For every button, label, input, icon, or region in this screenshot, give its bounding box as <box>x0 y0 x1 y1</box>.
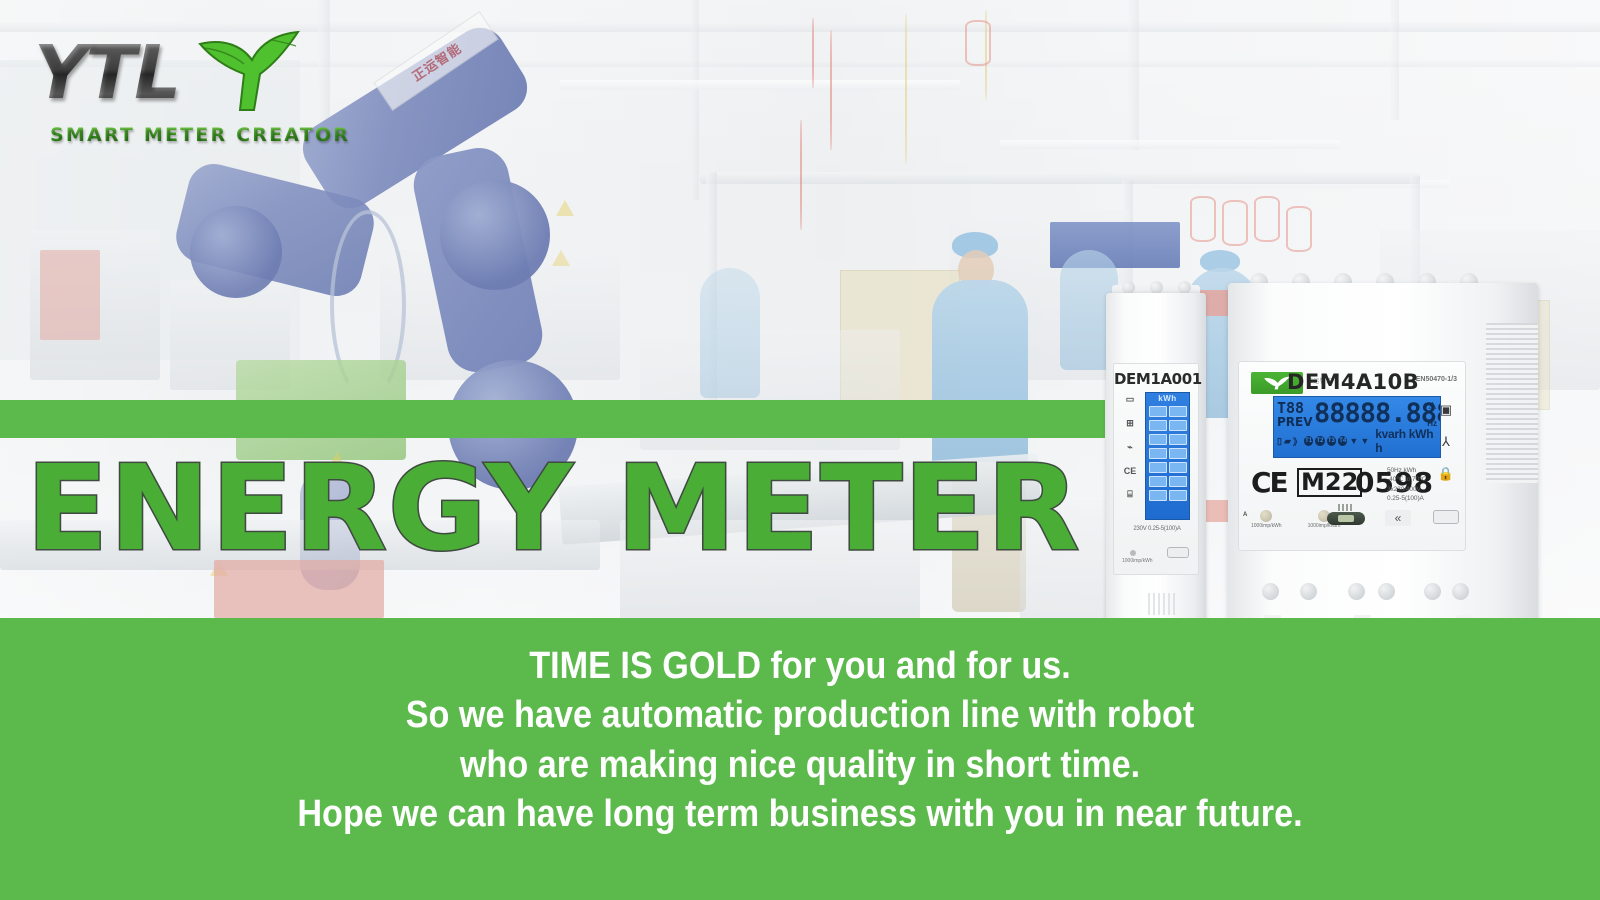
down-arrow-icon: ▼ <box>1360 436 1369 446</box>
ce-icon: CE <box>1118 466 1142 476</box>
lcd-indicator-row: ▯ ▰ 》 T1 T2 T3 T4 ▼ ▼ kvarh kWh h <box>1277 427 1439 455</box>
spec-line: 0.25-5(100)A <box>1387 494 1465 503</box>
meter-large-button[interactable] <box>1433 510 1459 524</box>
tagline-line: who are making nice quality in short tim… <box>80 741 1520 790</box>
lock-icon: ⊞ <box>1118 418 1142 429</box>
energy-meter-banner: 正运智能 YTL <box>0 0 1600 900</box>
meter-small-model-label: DEM1A001 <box>1114 370 1200 388</box>
lock-icon: ▰ <box>1284 436 1291 447</box>
meter-small-lcd-display: kWh <box>1145 392 1190 520</box>
metrology-mark: M22 <box>1297 468 1362 497</box>
terminal-screw <box>1452 583 1469 600</box>
meter-large-faceplate: 正运智能 DEM4A10B EN50470-1/3 T88 PREV 88888… <box>1238 361 1466 551</box>
terminal-screw <box>1262 583 1279 600</box>
terminal-screw <box>1300 583 1317 600</box>
meter-small-spec-label: 230V 0.25-5(100)A <box>1114 526 1200 532</box>
scroll-back-button[interactable]: « <box>1385 510 1411 526</box>
certification-icon: ⌸ <box>1118 489 1142 500</box>
comm-icon: 》 <box>1293 435 1302 448</box>
page-title: ENERGY METER <box>26 448 1080 568</box>
tariff-4-icon: T4 <box>1338 436 1347 446</box>
lcd-units-label: kvarh kWh h <box>1375 427 1439 455</box>
meter-small-side-marks: ▭ ⊞ ⌁ CE ⌸ <box>1118 394 1142 513</box>
pulse-led-a-label: 1000imp/kWh <box>1251 523 1282 529</box>
meter-small-faceplate: DEM1A001 ▭ ⊞ ⌁ CE ⌸ kWh <box>1113 363 1199 575</box>
spec-line: 50Hz kWh <box>1387 466 1465 475</box>
product-meter-large: 正运智能 DEM4A10B EN50470-1/3 T88 PREV 88888… <box>1228 283 1538 643</box>
tariff-3-icon: T3 <box>1327 436 1336 446</box>
battery-icon: ▯ <box>1277 436 1282 447</box>
tariff-2-icon: T2 <box>1315 436 1324 446</box>
down-arrow-icon: ▼ <box>1349 436 1358 446</box>
lcd-digits: 88888.888 <box>1314 398 1441 429</box>
display-icon: ▣ <box>1433 398 1459 422</box>
spec-line: -40℃ to 70℃ <box>1387 475 1465 484</box>
meter-large-spec-block: 50Hz kWh -40℃ to 70℃ 3x230/400V 0.25-5(1… <box>1387 466 1465 504</box>
pulse-led <box>1130 550 1136 556</box>
terminal-screw <box>1424 583 1441 600</box>
green-accent-bar <box>0 400 1105 438</box>
meter-large-vent <box>1486 323 1538 483</box>
spec-line: 3x230/400V <box>1387 485 1465 494</box>
meter-large-body: 正运智能 DEM4A10B EN50470-1/3 T88 PREV 88888… <box>1228 283 1538 623</box>
pulse-led-label: 1000imp/kWh <box>1122 558 1144 564</box>
phase-a-label: A <box>1243 512 1247 518</box>
meter-large-standard-label: EN50470-1/3 <box>1416 376 1457 383</box>
pulse-led-group: A 1000imp/kWh 1000imp/kvarh <box>1251 510 1401 529</box>
meter-large-lcd-display: T88 PREV 88888.888 ⚠ Hz ▯ ▰ 》 T1 T2 T3 T… <box>1273 396 1441 458</box>
comm-icon: ⌁ <box>1118 442 1142 453</box>
meter-small-body: DEM1A001 ▭ ⊞ ⌁ CE ⌸ kWh <box>1106 293 1206 623</box>
lcd-unit-label: kWh <box>1146 393 1189 403</box>
pulse-led-a: A 1000imp/kWh <box>1251 510 1282 529</box>
bird-checkmark-icon <box>194 30 302 116</box>
seal-hatch <box>1338 504 1354 511</box>
meter-small-button[interactable] <box>1167 547 1189 558</box>
terminal-screw <box>1378 583 1395 600</box>
tagline-block: TIME IS GOLD for you and for us. So we h… <box>0 642 1600 840</box>
tagline-line: Hope we can have long term business with… <box>80 790 1520 839</box>
product-meter-small: DEM1A001 ▭ ⊞ ⌁ CE ⌸ kWh <box>1106 293 1206 641</box>
optical-port[interactable] <box>1327 512 1365 525</box>
logo-tagline: SMART METER CREATOR <box>50 124 350 146</box>
three-phase-icon: ⅄ <box>1433 430 1459 454</box>
terminal-screw <box>1348 583 1365 600</box>
meter-small-vent <box>1148 593 1178 615</box>
display-icon: ▭ <box>1118 394 1142 405</box>
ce-mark: CE <box>1251 466 1287 499</box>
led-indicator <box>1260 510 1272 522</box>
tagline-line: So we have automatic production line wit… <box>80 691 1520 740</box>
company-logo: YTL SMART METER CREATOR <box>34 36 296 154</box>
tariff-1-icon: T1 <box>1304 436 1313 446</box>
tagline-line: TIME IS GOLD for you and for us. <box>80 642 1520 691</box>
